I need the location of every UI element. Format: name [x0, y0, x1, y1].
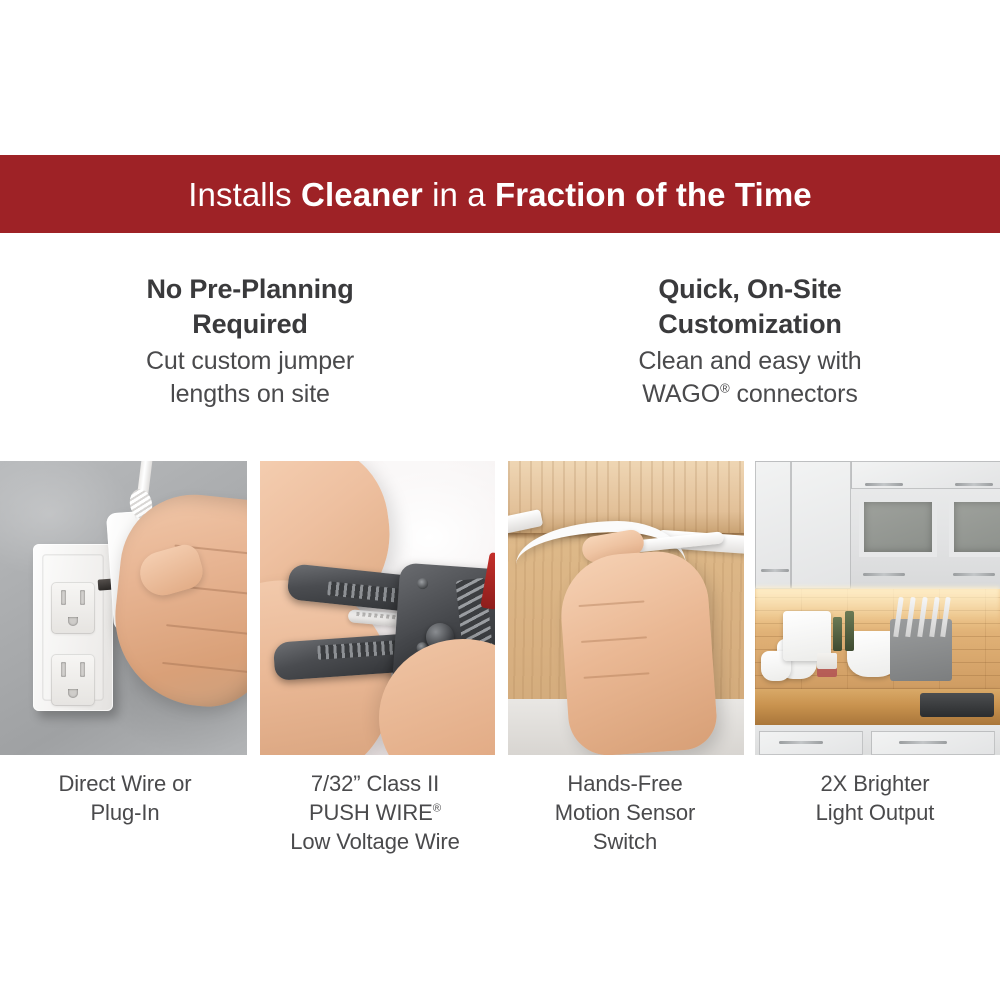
jar [817, 653, 837, 677]
feature-subtitle-line-2: lengths on site [40, 378, 460, 411]
drawer-handle [899, 741, 947, 744]
cabinet-handle [953, 573, 995, 576]
headline-segment-1: Installs [188, 176, 301, 213]
caption-line-1: 7/32” Class II [262, 769, 488, 798]
photo-panel-direct-wire-or-plug-in [0, 461, 247, 755]
feature-block-no-pre-planning: No Pre-Planning Required Cut custom jump… [0, 272, 500, 411]
sink [920, 693, 994, 717]
caption-push-wire-low-voltage-wire: 7/32” Class II PUSH WIRE® Low Voltage Wi… [250, 769, 500, 856]
caption-line-1: 2X Brighter [762, 769, 988, 798]
cabinet-handle [863, 573, 905, 576]
caption-2x-brighter-light-output: 2X Brighter Light Output [750, 769, 1000, 856]
feature-title: No Pre-Planning Required [40, 272, 460, 341]
glass-cabinet-door [859, 497, 937, 557]
feature-row: No Pre-Planning Required Cut custom jump… [0, 272, 1000, 411]
drawer-handle [779, 741, 823, 744]
product-feature-infographic: Installs Cleaner in a Fraction of the Ti… [0, 0, 1000, 1000]
hand-routing-cable [557, 548, 719, 755]
feature-subtitle: Cut custom jumper lengths on site [40, 345, 460, 411]
glass-cabinet-door [949, 497, 1000, 557]
caption-line-1: Direct Wire or [12, 769, 238, 798]
stripper-hole [417, 578, 429, 590]
feature-subtitle: Clean and easy with WAGO® connectors [540, 345, 960, 411]
receptacle-slot-right [80, 590, 85, 605]
receptacle-ground-pin [68, 617, 78, 626]
finger-crease [166, 624, 247, 636]
feature-subtitle-line-2-tail: connectors [730, 380, 858, 408]
registered-trademark-icon: ® [720, 381, 729, 396]
caption-row: Direct Wire or Plug-In 7/32” Class II PU… [0, 769, 1000, 856]
knuckle-crease [579, 600, 645, 607]
caption-hands-free-motion-sensor-switch: Hands-Free Motion Sensor Switch [500, 769, 750, 856]
finger-crease [162, 662, 247, 674]
feature-subtitle-line-2: WAGO® connectors [540, 378, 960, 411]
bottle [833, 617, 842, 651]
receptacle-slot-right [80, 662, 85, 677]
receptacle-top [51, 582, 95, 634]
caption-line-2: Plug-In [12, 798, 238, 827]
headline-segment-2-bold: Cleaner [301, 176, 423, 213]
cabinet-handle [955, 483, 993, 486]
lower-cabinets [755, 725, 1000, 755]
knuckle-crease [581, 636, 647, 643]
receptacle-bottom [51, 654, 95, 706]
receptacle-slot-left [61, 662, 66, 677]
wall-outlet-plate [33, 544, 113, 711]
caption-line-3: Switch [512, 827, 738, 856]
caption-line-2: Motion Sensor [512, 798, 738, 827]
feature-title-line-1: No Pre-Planning [40, 272, 460, 307]
photo-panel-hands-free-motion-sensor [508, 461, 744, 755]
feature-title-line-2: Customization [540, 307, 960, 342]
receptacle-ground-pin [68, 689, 78, 698]
feature-title-line-2: Required [40, 307, 460, 342]
outlet-inner-face [42, 554, 104, 701]
feature-subtitle-line-1: Clean and easy with [540, 345, 960, 378]
knife-block [890, 619, 952, 681]
cabinet-handle [865, 483, 903, 486]
push-wire-brand-name: PUSH WIRE [309, 800, 433, 825]
caption-line-2: Light Output [762, 798, 988, 827]
feature-title: Quick, On-Site Customization [540, 272, 960, 341]
cabinet-door [791, 461, 851, 589]
knuckle-crease [584, 672, 650, 679]
photo-strip [0, 461, 1000, 755]
caption-line-3: Low Voltage Wire [262, 827, 488, 856]
upper-cabinets [755, 461, 1000, 589]
caption-line-2: PUSH WIRE® [262, 798, 488, 827]
cabinet-handle [761, 569, 789, 572]
feature-subtitle-line-1: Cut custom jumper [40, 345, 460, 378]
photo-panel-2x-brighter-light-output [755, 461, 1000, 755]
bottle [845, 611, 854, 651]
feature-title-line-1: Quick, On-Site [540, 272, 960, 307]
wago-brand-name: WAGO [642, 380, 720, 408]
feature-block-quick-on-site: Quick, On-Site Customization Clean and e… [500, 272, 1000, 411]
receptacle-slot-left [61, 590, 66, 605]
headline-segment-4-bold: Fraction of the Time [495, 176, 812, 213]
caption-line-1: Hands-Free [512, 769, 738, 798]
photo-panel-push-wire-low-voltage-wire [260, 461, 495, 755]
headline-banner: Installs Cleaner in a Fraction of the Ti… [0, 155, 1000, 233]
headline-text: Installs Cleaner in a Fraction of the Ti… [188, 178, 811, 211]
headline-segment-3: in a [423, 176, 495, 213]
registered-trademark-icon: ® [433, 803, 441, 815]
caption-direct-wire-or-plug-in: Direct Wire or Plug-In [0, 769, 250, 856]
